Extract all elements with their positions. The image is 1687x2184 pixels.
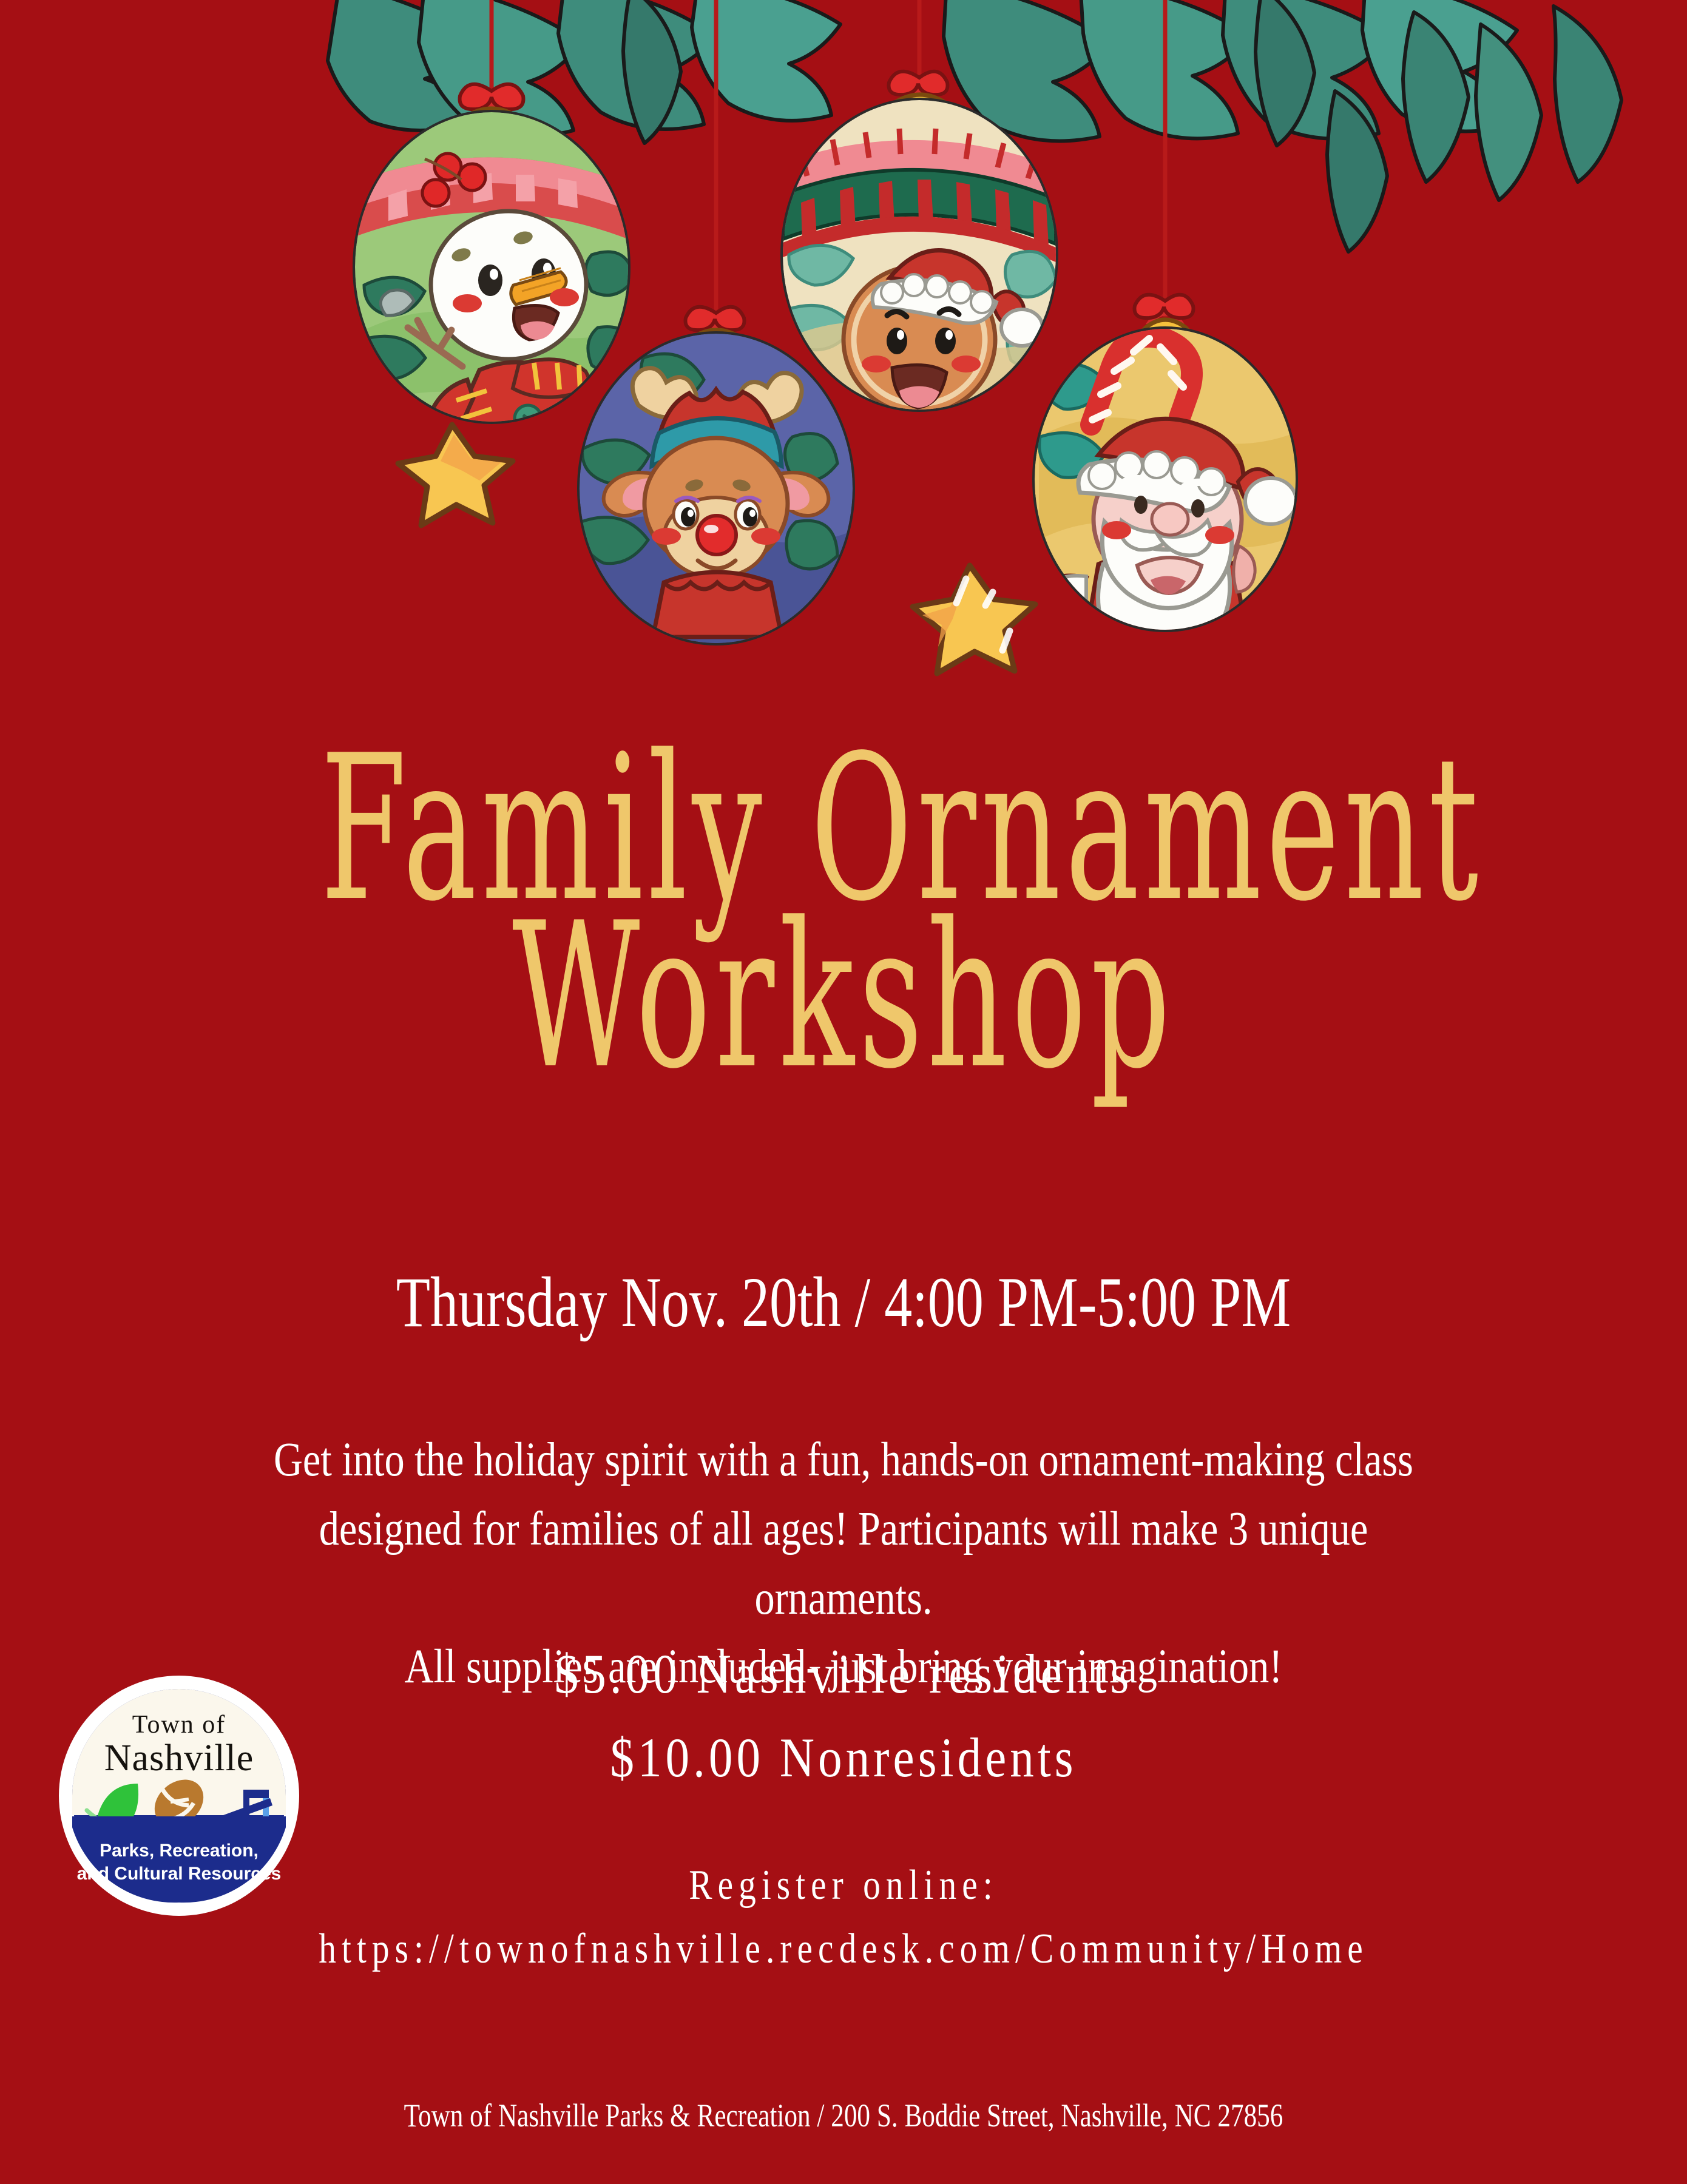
title-line-2: Workshop xyxy=(320,905,1367,1089)
town-of-nashville-logo: Town of Nashville xyxy=(58,1674,300,1917)
registration-block: Register online: https://townofnashville… xyxy=(152,1853,1535,1981)
description-line-3: ornaments. xyxy=(201,1564,1486,1633)
footer-address: Town of Nashville Parks & Recreation / 2… xyxy=(169,2096,1518,2135)
register-url[interactable]: https://townofnashville.recdesk.com/Comm… xyxy=(152,1917,1535,1981)
pricing-block: $5.00 Nashville residents $10.00 Nonresi… xyxy=(118,1632,1569,1799)
logo-line-3-text: Parks, Recreation, xyxy=(100,1841,259,1861)
register-label: Register online: xyxy=(152,1853,1535,1917)
logo-line-1-text: Town of xyxy=(132,1711,226,1739)
logo-line-2-text: Nashville xyxy=(104,1737,254,1779)
event-dateline: Thursday Nov. 20th / 4:00 PM-5:00 PM xyxy=(186,1265,1501,1340)
flyer-poster: Family Ornament Workshop Thursday Nov. 2… xyxy=(0,0,1687,2184)
ornaments-artwork xyxy=(0,0,1687,716)
description-line-2: designed for families of all ages! Parti… xyxy=(201,1495,1486,1564)
description-line-1: Get into the holiday spirit with a fun, … xyxy=(201,1426,1486,1495)
page-title: Family Ornament Workshop xyxy=(0,737,1687,1088)
price-resident: $5.00 Nashville residents xyxy=(118,1632,1569,1716)
price-nonresident: $10.00 Nonresidents xyxy=(118,1716,1569,1799)
logo-line-4-text: and Cultural Resources xyxy=(77,1864,282,1884)
